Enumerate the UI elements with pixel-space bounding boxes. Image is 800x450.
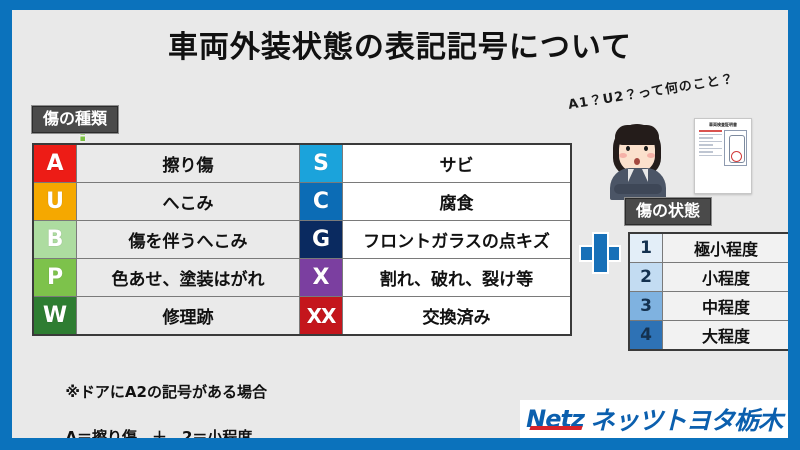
netz-brand-logo: Netz [526, 405, 584, 433]
severity-level-3: 3 [629, 292, 663, 321]
hair-fringe [615, 125, 659, 145]
severity-row: 2小程度 [629, 263, 788, 292]
cheek-left [619, 153, 627, 158]
severity-level-4: 4 [629, 321, 663, 351]
collar-left [628, 169, 634, 182]
confused-woman-illustration [604, 122, 676, 198]
damage-symbol-c: C [300, 183, 343, 221]
page-title: 車両外装状態の表記記号について [12, 22, 788, 66]
table-row: B傷を伴うへこみGフロントガラスの点キズ [33, 221, 571, 259]
damage-symbol-g: G [300, 221, 343, 259]
severity-level-2: 2 [629, 263, 663, 292]
certificate-line [699, 155, 722, 157]
damage-symbol-w: W [33, 297, 77, 336]
severity-label-4: 大程度 [663, 321, 789, 351]
slide-canvas: 車両外装状態の表記記号について A1？U2？って何のこと？ ? 車両検査証明書 [12, 10, 788, 438]
certificate-line [699, 130, 722, 132]
damage-symbol-s: S [300, 144, 343, 183]
certificate-line [699, 141, 722, 143]
damage-label-x: 割れ、破れ、裂け等 [343, 259, 572, 297]
certificate-line [699, 151, 713, 153]
certificate-title: 車両検査証明書 [699, 123, 747, 127]
table-row: W修理跡XX交換済み [33, 297, 571, 336]
table-row: UへこみC腐食 [33, 183, 571, 221]
damage-severity-table: 1極小程度2小程度3中程度4大程度 [628, 232, 788, 351]
section-heading-damage-types: 傷の種類 [32, 106, 118, 133]
certificate-line [699, 134, 722, 136]
certificate-line [699, 137, 713, 139]
damage-label-a: 擦り傷 [77, 144, 300, 183]
cheek-right [647, 153, 655, 158]
slide-frame: 車両外装状態の表記記号について A1？U2？って何のこと？ ? 車両検査証明書 [0, 0, 800, 450]
damage-label-c: 腐食 [343, 183, 572, 221]
severity-row: 3中程度 [629, 292, 788, 321]
dealer-name-label: ネッツトヨタ栃木 [590, 401, 782, 437]
crossed-arms [614, 184, 662, 194]
plus-icon [579, 232, 621, 274]
damage-label-b: 傷を伴うへこみ [77, 221, 300, 259]
footnote-line-2: A＝擦り傷 ＋ 2＝小程度 [65, 428, 252, 439]
footnote-line-1: ※ドアにA2の記号がある場合 [65, 383, 267, 401]
severity-level-1: 1 [629, 233, 663, 263]
certificate-line [699, 144, 713, 146]
damage-severity-table-body: 1極小程度2小程度3中程度4大程度 [629, 233, 788, 350]
certificate-left-column [699, 130, 722, 166]
damage-symbol-u: U [33, 183, 77, 221]
damage-symbol-xx: XX [300, 297, 343, 336]
damage-type-table: A擦り傷SサビUへこみC腐食B傷を伴うへこみGフロントガラスの点キズP色あせ、塗… [32, 143, 572, 336]
section-heading-damage-severity: 傷の状態 [625, 198, 711, 225]
certificate-diagram-box [724, 130, 747, 166]
certificate-body [699, 130, 747, 166]
damage-label-u: へこみ [77, 183, 300, 221]
vehicle-inspection-certificate-illustration: 車両検査証明書 [694, 118, 752, 194]
damage-label-w: 修理跡 [77, 297, 300, 336]
severity-row: 1極小程度 [629, 233, 788, 263]
table-row: P色あせ、塗装はがれX割れ、破れ、裂け等 [33, 259, 571, 297]
speech-text: A1？U2？って何のこと？ [567, 68, 736, 113]
damage-symbol-a: A [33, 144, 77, 183]
collar-right [642, 169, 648, 182]
eye-left [626, 146, 630, 151]
damage-label-g: フロントガラスの点キズ [343, 221, 572, 259]
severity-label-3: 中程度 [663, 292, 789, 321]
stamp-icon [731, 151, 742, 162]
mouth [634, 158, 640, 165]
severity-label-1: 極小程度 [663, 233, 789, 263]
damage-symbol-x: X [300, 259, 343, 297]
severity-label-2: 小程度 [663, 263, 789, 292]
certificate-line [699, 148, 722, 150]
plus-bar-vertical [592, 232, 609, 274]
table-row: A擦り傷Sサビ [33, 144, 571, 183]
certificate-right-column [724, 130, 747, 166]
damage-type-table-body: A擦り傷SサビUへこみC腐食B傷を伴うへこみGフロントガラスの点キズP色あせ、塗… [33, 144, 571, 335]
eye-right [644, 146, 648, 151]
footnote: ※ドアにA2の記号がある場合 A＝擦り傷 ＋ 2＝小程度 →小程度の擦り傷がある [34, 358, 267, 438]
damage-symbol-b: B [33, 221, 77, 259]
damage-label-p: 色あせ、塗装はがれ [77, 259, 300, 297]
severity-row: 4大程度 [629, 321, 788, 351]
damage-label-s: サビ [343, 144, 572, 183]
damage-label-xx: 交換済み [343, 297, 572, 336]
damage-symbol-p: P [33, 259, 77, 297]
dealer-logo: Netz ネッツトヨタ栃木 [520, 400, 788, 438]
